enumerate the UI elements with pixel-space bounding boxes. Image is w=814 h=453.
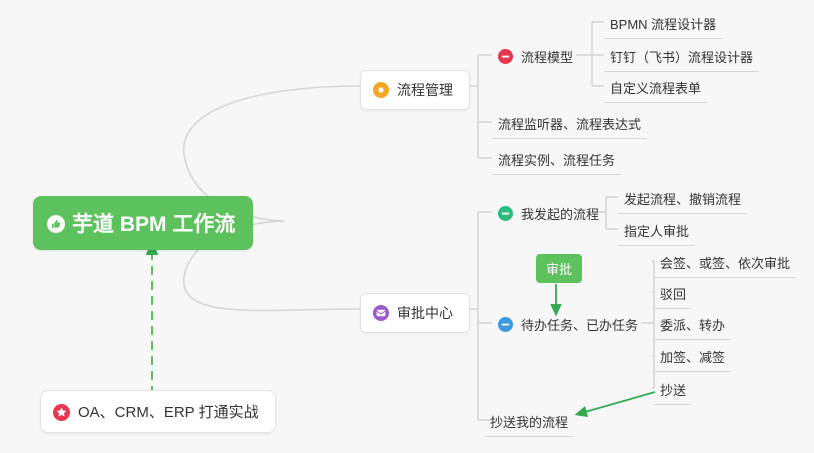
- mindmap-canvas: 芋道 BPM 工作流 流程管理 流程模型 BPMN 流程设计器 钉钉（飞书）流程…: [0, 0, 814, 453]
- arrow-cc-to-my-cc: [578, 392, 655, 414]
- branch-approval-center[interactable]: 审批中心: [360, 293, 470, 333]
- node-my-initiated-label: 我发起的流程: [521, 204, 599, 223]
- node-delegate-transfer[interactable]: 委派、转办: [654, 312, 731, 340]
- node-cc-label: 抄送: [660, 380, 686, 399]
- node-custom-form-label: 自定义流程表单: [610, 78, 701, 97]
- note-integration[interactable]: OA、CRM、ERP 打通实战: [40, 390, 276, 433]
- node-countersign[interactable]: 会签、或签、依次审批: [654, 250, 796, 278]
- branch-approval-center-label: 审批中心: [397, 303, 453, 323]
- note-integration-label: OA、CRM、ERP 打通实战: [78, 401, 259, 422]
- node-instance-task[interactable]: 流程实例、流程任务: [492, 147, 621, 175]
- root-node[interactable]: 芋道 BPM 工作流: [33, 196, 253, 250]
- message-icon: [373, 305, 389, 321]
- node-todo-done-tasks-label: 待办任务、已办任务: [521, 315, 638, 334]
- node-assign-approver-label: 指定人审批: [624, 221, 689, 240]
- node-listener-expression[interactable]: 流程监听器、流程表达式: [492, 111, 647, 139]
- node-dingtalk-designer-label: 钉钉（飞书）流程设计器: [610, 47, 753, 66]
- node-start-cancel-process[interactable]: 发起流程、撤销流程: [618, 186, 747, 214]
- node-bpmn-designer-label: BPMN 流程设计器: [610, 14, 716, 33]
- branch-process-management[interactable]: 流程管理: [360, 70, 470, 110]
- node-add-remove-sign-label: 加签、减签: [660, 347, 725, 366]
- thumbs-up-icon: [47, 215, 63, 231]
- node-cc-to-me[interactable]: 抄送我的流程: [484, 409, 574, 437]
- node-listener-expression-label: 流程监听器、流程表达式: [498, 114, 641, 133]
- node-delegate-transfer-label: 委派、转办: [660, 315, 725, 334]
- node-start-cancel-process-label: 发起流程、撤销流程: [624, 189, 741, 208]
- node-add-remove-sign[interactable]: 加签、减签: [654, 344, 731, 372]
- node-process-model[interactable]: 流程模型: [492, 44, 579, 71]
- minus-circle-icon: [498, 49, 514, 65]
- node-my-initiated[interactable]: 我发起的流程: [492, 201, 605, 228]
- node-custom-form[interactable]: 自定义流程表单: [604, 75, 707, 103]
- node-assign-approver[interactable]: 指定人审批: [618, 218, 695, 246]
- node-instance-task-label: 流程实例、流程任务: [498, 150, 615, 169]
- node-todo-done-tasks[interactable]: 待办任务、已办任务: [492, 312, 644, 339]
- node-cc-to-me-label: 抄送我的流程: [490, 412, 568, 431]
- tag-approval-label: 审批: [546, 262, 572, 277]
- node-countersign-label: 会签、或签、依次审批: [660, 253, 790, 272]
- branch-process-management-label: 流程管理: [397, 80, 453, 100]
- node-process-model-label: 流程模型: [521, 47, 573, 66]
- node-cc[interactable]: 抄送: [654, 377, 692, 405]
- node-reject[interactable]: 驳回: [654, 281, 692, 309]
- location-pin-icon: [373, 82, 389, 98]
- node-reject-label: 驳回: [660, 284, 686, 303]
- minus-circle-icon: [498, 317, 514, 333]
- node-dingtalk-designer[interactable]: 钉钉（飞书）流程设计器: [604, 44, 759, 72]
- star-circle-icon: [53, 404, 69, 420]
- minus-circle-icon: [498, 206, 514, 222]
- tag-approval[interactable]: 审批: [536, 254, 582, 283]
- node-bpmn-designer[interactable]: BPMN 流程设计器: [604, 11, 722, 39]
- root-label: 芋道 BPM 工作流: [72, 208, 235, 238]
